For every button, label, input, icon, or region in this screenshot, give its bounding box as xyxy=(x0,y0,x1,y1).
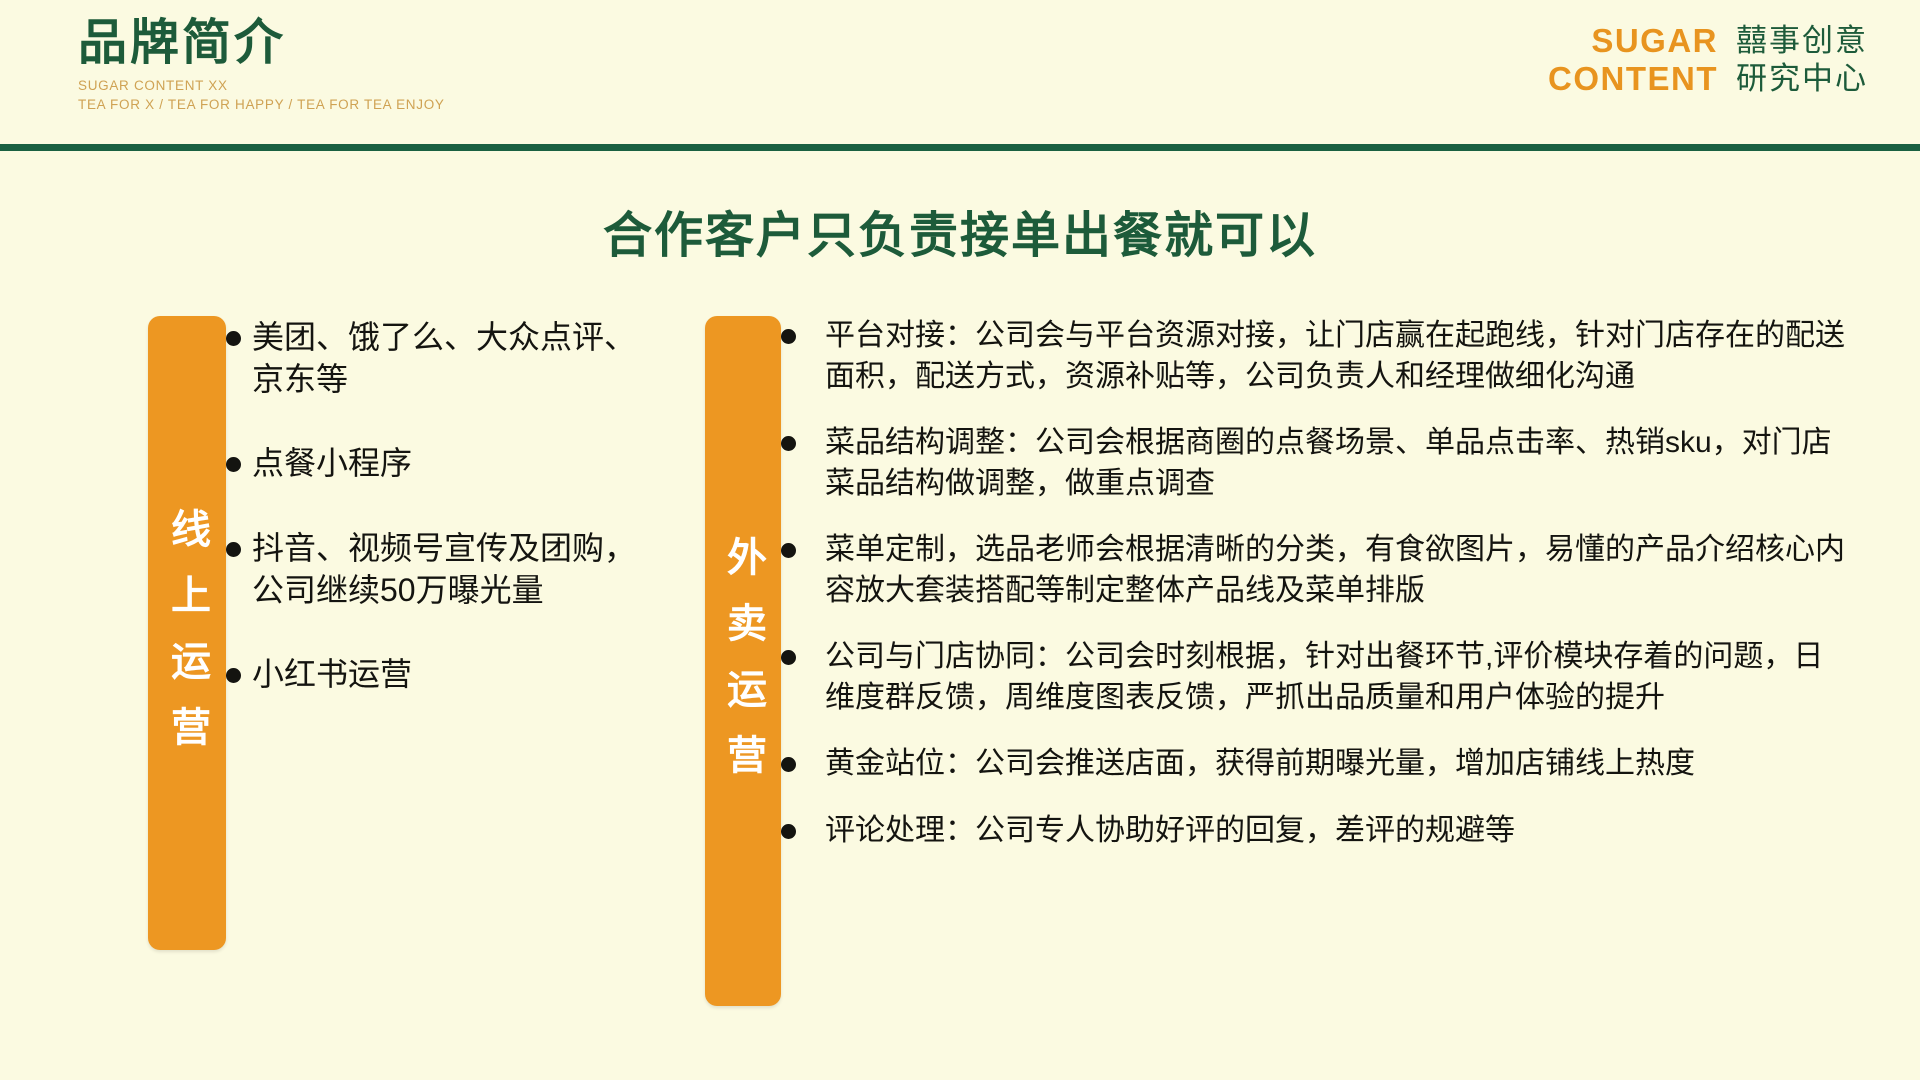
brand-subtitle-line2: TEA FOR X / TEA FOR HAPPY / TEA FOR TEA … xyxy=(78,97,445,112)
page-title: 品牌简介 xyxy=(78,18,445,69)
list-item-text: 小红书运营 xyxy=(252,656,412,692)
list-item: 黄金站位：公司会推送店面，获得前期曝光量，增加店铺线上热度 xyxy=(781,744,1851,785)
column-delivery-operations: 外卖运营 平台对接：公司会与平台资源对接，让门店赢在起跑线，针对门店存在的配送面… xyxy=(705,316,1851,1006)
list-item: 抖音、视频号宣传及团购，公司继续50万曝光量 xyxy=(226,527,646,611)
column-online-operations: 线上运营 美团、饿了么、大众点评、京东等 点餐小程序 抖音、视频号宣传及团购，公… xyxy=(148,316,646,950)
bullet-dot-icon xyxy=(226,542,241,557)
logo-chinese-text: 囍事创意 研究中心 xyxy=(1736,22,1868,98)
list-item: 菜单定制，选品老师会根据清晰的分类，有食欲图片，易懂的产品介绍核心内容放大套装搭… xyxy=(781,530,1851,611)
bullet-dot-icon xyxy=(226,457,241,472)
list-item: 评论处理：公司专人协助好评的回复，差评的规避等 xyxy=(781,811,1851,852)
list-item-text: 黄金站位：公司会推送店面，获得前期曝光量，增加店铺线上热度 xyxy=(825,747,1695,780)
logo-english-line2: CONTENT xyxy=(1548,60,1718,98)
logo-chinese-line1: 囍事创意 xyxy=(1736,22,1868,60)
brand-subtitle-line1: SUGAR CONTENT XX xyxy=(78,78,445,93)
list-item-text: 抖音、视频号宣传及团购，公司继续50万曝光量 xyxy=(252,530,636,608)
slide-title: 合作客户只负责接单出餐就可以 xyxy=(0,196,1920,267)
bullet-list-delivery-operations: 平台对接：公司会与平台资源对接，让门店赢在起跑线，针对门店存在的配送面积，配送方… xyxy=(781,316,1851,851)
list-item: 美团、饿了么、大众点评、京东等 xyxy=(226,316,646,400)
vertical-tab-label: 线上运营 xyxy=(167,495,207,772)
list-item: 公司与门店协同：公司会时刻根据，针对出餐环节,评价模块存着的问题，日维度群反馈，… xyxy=(781,637,1851,718)
bullet-dot-icon xyxy=(781,329,796,344)
bullet-dot-icon xyxy=(781,436,796,451)
vertical-tab-label: 外卖运营 xyxy=(723,523,763,800)
list-item-text: 评论处理：公司专人协助好评的回复，差评的规避等 xyxy=(825,814,1515,847)
list-item: 菜品结构调整：公司会根据商圈的点餐场景、单品点击率、热销sku，对门店菜品结构做… xyxy=(781,423,1851,504)
logo-english-text: SUGAR CONTENT xyxy=(1548,22,1718,97)
logo-english-line1: SUGAR xyxy=(1548,22,1718,60)
list-item: 点餐小程序 xyxy=(226,442,646,484)
bullet-list-online-operations: 美团、饿了么、大众点评、京东等 点餐小程序 抖音、视频号宣传及团购，公司继续50… xyxy=(226,316,646,695)
header-divider xyxy=(0,144,1920,151)
brand-block: 品牌简介 SUGAR CONTENT XX TEA FOR X / TEA FO… xyxy=(78,18,445,112)
list-item-text: 平台对接：公司会与平台资源对接，让门店赢在起跑线，针对门店存在的配送面积，配送方… xyxy=(825,319,1845,393)
bullet-dot-icon xyxy=(226,331,241,346)
list-item-text: 点餐小程序 xyxy=(252,445,412,481)
vertical-tab-online-operations: 线上运营 xyxy=(148,316,226,950)
page-header: 品牌简介 SUGAR CONTENT XX TEA FOR X / TEA FO… xyxy=(0,0,1920,146)
list-item-text: 公司与门店协同：公司会时刻根据，针对出餐环节,评价模块存着的问题，日维度群反馈，… xyxy=(825,640,1823,714)
vertical-tab-delivery-operations: 外卖运营 xyxy=(705,316,781,1006)
bullet-dot-icon xyxy=(781,650,796,665)
bullet-dot-icon xyxy=(781,757,796,772)
list-item-text: 菜品结构调整：公司会根据商圈的点餐场景、单品点击率、热销sku，对门店菜品结构做… xyxy=(825,426,1832,500)
list-item: 平台对接：公司会与平台资源对接，让门店赢在起跑线，针对门店存在的配送面积，配送方… xyxy=(781,316,1851,397)
logo-chinese-line2: 研究中心 xyxy=(1736,60,1868,98)
list-item-text: 美团、饿了么、大众点评、京东等 xyxy=(252,319,636,397)
company-logo: SUGAR CONTENT 囍事创意 研究中心 xyxy=(1548,22,1868,98)
list-item: 小红书运营 xyxy=(226,653,646,695)
bullet-dot-icon xyxy=(781,824,796,839)
list-item-text: 菜单定制，选品老师会根据清晰的分类，有食欲图片，易懂的产品介绍核心内容放大套装搭… xyxy=(825,533,1845,607)
bullet-dot-icon xyxy=(781,543,796,558)
bullet-dot-icon xyxy=(226,668,241,683)
